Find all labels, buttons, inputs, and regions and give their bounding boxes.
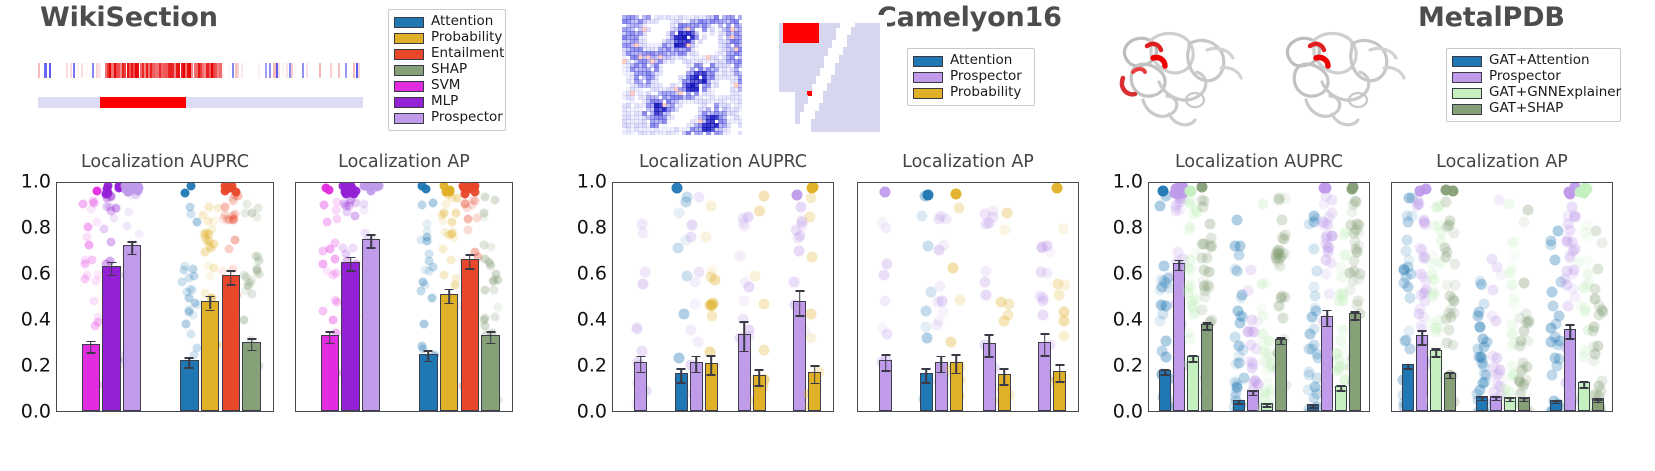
- heatmap-tile: [654, 19, 659, 24]
- y-axis-tick-label: 0.0: [21, 403, 51, 422]
- heatmap-tile: [698, 39, 703, 44]
- heatmap-tile: [686, 131, 691, 135]
- scatter-point: [1353, 227, 1364, 238]
- scatter-point: [1280, 230, 1291, 241]
- scatter-point: [1313, 411, 1324, 412]
- scatter-point: [806, 252, 817, 263]
- scatter-point: [934, 213, 945, 224]
- scatter-point: [440, 270, 449, 279]
- scatter-point: [1041, 240, 1052, 251]
- scatter-point: [99, 225, 108, 234]
- scatter-point: [1243, 326, 1254, 337]
- scatter-point: [1261, 278, 1272, 289]
- attribution-heatmap: [622, 15, 742, 135]
- scatter-point: [980, 290, 991, 301]
- scatter-point: [1568, 268, 1579, 279]
- scatter-point: [639, 266, 650, 277]
- y-axis-tick-label: 1.0: [1113, 173, 1143, 192]
- scatter-point: [1546, 336, 1557, 347]
- scatter-point: [922, 332, 933, 343]
- error-bar-cap: [367, 247, 376, 249]
- legend-swatch-icon: [394, 97, 424, 108]
- scatter-point: [493, 303, 502, 312]
- error-bar-cap: [1277, 344, 1286, 346]
- scatter-point: [1488, 284, 1499, 295]
- scatter-point: [1060, 279, 1071, 290]
- bar-probability-deberta: [440, 294, 458, 411]
- error-bar-cap: [367, 234, 376, 236]
- error-bar-cap: [107, 275, 116, 277]
- bar-gat-gnnexplainer-collapse: [1187, 356, 1199, 411]
- scatter-point: [94, 312, 103, 321]
- scatter-point: [1448, 308, 1459, 319]
- scatter-point: [701, 231, 712, 242]
- scatter-point: [1509, 249, 1520, 260]
- y-axis-tick-label: 0.0: [577, 403, 607, 422]
- error-bar-cap: [1248, 395, 1257, 397]
- scatter-point: [486, 243, 495, 252]
- scatter-point: [1197, 239, 1208, 250]
- error-bar-cap: [1308, 405, 1317, 407]
- scatter-point: [1277, 312, 1288, 323]
- scatter-point: [954, 203, 965, 214]
- scatter-point: [323, 217, 332, 226]
- scatter-point: [1327, 208, 1338, 219]
- scatter-point: [349, 244, 358, 253]
- scatter-point: [446, 256, 455, 265]
- heatmap-tile: [738, 107, 742, 112]
- scatter-point: [1579, 283, 1590, 294]
- error-bar-cap: [1160, 374, 1169, 376]
- error-bar: [1569, 324, 1571, 338]
- scatter-point: [361, 228, 370, 237]
- scatter-point: [438, 216, 447, 225]
- scatter-point: [1353, 274, 1364, 285]
- scatter-point: [179, 266, 188, 275]
- error-bar: [90, 341, 92, 353]
- scatter-point: [1230, 331, 1241, 342]
- dataset-title-camelyon16: Camelyon16: [877, 2, 1062, 33]
- scatter-point: [1478, 298, 1489, 309]
- scatter-point: [1574, 256, 1585, 267]
- scatter-point: [481, 285, 490, 294]
- scatter-point: [876, 323, 887, 334]
- scatter-point: [102, 202, 111, 211]
- error-bar-cap: [226, 284, 235, 286]
- scatter-point: [331, 269, 340, 278]
- chart-title: Localization AUPRC: [56, 152, 274, 172]
- bar-gat-shap-collapse: [1201, 324, 1213, 411]
- scatter-point: [1246, 357, 1257, 368]
- bar-mlp-minilm: [341, 262, 359, 412]
- legend-item-label: Entailment: [431, 47, 504, 61]
- scatter-point: [706, 311, 717, 322]
- scatter-point: [420, 320, 429, 329]
- wikisection-token-attribution-thumbnail: [28, 55, 373, 127]
- scatter-point: [1515, 335, 1526, 346]
- scatter-point: [932, 319, 943, 330]
- error-bar-cap: [1263, 406, 1272, 408]
- legend-item-label: Prospector: [1489, 70, 1561, 84]
- scatter-point: [1474, 321, 1485, 332]
- error-bar-cap: [795, 315, 804, 317]
- scatter-point: [91, 322, 100, 331]
- error-bar: [209, 296, 211, 310]
- scatter-point: [678, 309, 689, 320]
- error-bar-cap: [1203, 329, 1212, 331]
- scatter-point: [1519, 216, 1530, 227]
- legend-item-mlp: MLP: [394, 94, 499, 110]
- error-bar-cap: [740, 321, 749, 323]
- error-bar: [799, 290, 801, 315]
- scatter-point: [1155, 300, 1166, 311]
- legend-item-label: SHAP: [431, 63, 467, 77]
- scatter-point: [1197, 275, 1208, 286]
- scatter-point: [1414, 242, 1425, 253]
- protein-structure-cartoon: [1266, 16, 1416, 136]
- scatter-point: [1504, 199, 1515, 210]
- scatter-point: [1588, 322, 1599, 333]
- scatter-point: [933, 296, 944, 307]
- legend-swatch-icon: [394, 49, 424, 60]
- scatter-point: [1504, 268, 1515, 279]
- error-bar-cap: [636, 372, 645, 374]
- scatter-point: [1170, 200, 1181, 211]
- scatter-point: [1053, 289, 1064, 300]
- tissue-tile: [823, 51, 828, 56]
- chart-panel-metalpdb-auprc: Localization AUPRCCOLLAPSEESMAA0.00.20.4…: [1148, 152, 1370, 412]
- error-bar-cap: [1308, 407, 1317, 409]
- scatter-point: [1198, 196, 1209, 207]
- scatter-point: [1185, 185, 1196, 196]
- legend-swatch-icon: [913, 56, 943, 67]
- scatter-point: [332, 215, 341, 224]
- ground-truth-span: [100, 97, 186, 108]
- legend-swatch-icon: [394, 113, 424, 124]
- scatter-point: [203, 261, 212, 270]
- scatter-point: [1183, 270, 1194, 281]
- scatter-point: [360, 200, 369, 209]
- y-axis-tick-label: 0.0: [1113, 403, 1143, 422]
- scatter-point: [1257, 198, 1268, 209]
- scatter-point: [1441, 197, 1452, 208]
- dataset-title-wikisection: WikiSection: [40, 2, 218, 33]
- scatter-point: [92, 276, 101, 285]
- scatter-point: [347, 188, 356, 197]
- protein-structure-cartoon: [1103, 16, 1253, 136]
- error-bar: [885, 354, 887, 370]
- scatter-point: [1440, 252, 1451, 263]
- bar-shap-deberta: [242, 342, 260, 411]
- plot-area: tile2vecViTCLIPPLIP: [857, 182, 1079, 412]
- error-bar-cap: [86, 341, 95, 343]
- scatter-point: [671, 182, 682, 193]
- heatmap-tile: [678, 103, 683, 108]
- plot-area: MiniLMDeBERTa: [56, 182, 274, 412]
- error-bar-cap: [707, 374, 716, 376]
- scatter-point: [459, 184, 468, 193]
- scatter-point: [1413, 198, 1424, 209]
- scatter-point: [1518, 357, 1529, 368]
- scatter-point: [423, 233, 432, 242]
- scatter-point: [1567, 236, 1578, 247]
- scatter-point: [981, 266, 992, 277]
- scatter-point: [1427, 317, 1438, 328]
- scatter-point: [81, 275, 90, 284]
- y-axis-tick-label: 0.8: [21, 219, 51, 238]
- scatter-point: [807, 182, 818, 193]
- scatter-point: [1249, 376, 1260, 387]
- error-bar-cap: [1160, 369, 1169, 371]
- error-bar-cap: [185, 357, 194, 359]
- error-bar-cap: [1432, 348, 1441, 350]
- chart-panel-wikisection-ap: Localization APMiniLMDeBERTa: [295, 152, 513, 412]
- heatmap-tile: [738, 123, 742, 128]
- scatter-point: [463, 214, 472, 223]
- scatter-point: [806, 309, 817, 320]
- plot-area: COLLAPSEESMAA: [1148, 182, 1370, 412]
- scatter-point: [737, 212, 748, 223]
- scatter-point: [1550, 254, 1561, 265]
- error-bar-cap: [707, 355, 716, 357]
- error-bar: [350, 257, 352, 271]
- legend-item-label: Probability: [431, 31, 502, 45]
- legend-wikisection: AttentionProbabilityEntailmentSHAPSVMMLP…: [388, 9, 506, 131]
- error-bar-cap: [1189, 361, 1198, 363]
- scatter-point: [1429, 220, 1440, 231]
- legend-swatch-icon: [394, 33, 424, 44]
- heatmap-tile: [726, 131, 731, 135]
- scatter-point: [1058, 315, 1069, 326]
- legend-item-attention: Attention: [913, 53, 1028, 69]
- scatter-point: [1157, 186, 1168, 197]
- legend-item-probability: Probability: [913, 85, 1028, 101]
- legend-item-label: Prospector: [950, 70, 1022, 84]
- scatter-point: [1523, 204, 1534, 215]
- error-bar-cap: [1594, 399, 1603, 401]
- scatter-point: [328, 316, 337, 325]
- error-bar: [1059, 364, 1061, 381]
- scatter-point: [1185, 254, 1196, 265]
- scatter-point: [192, 300, 201, 309]
- scatter-point: [1257, 303, 1268, 314]
- legend-item-gat-attention: GAT+Attention: [1452, 53, 1614, 69]
- scatter-point: [1307, 343, 1318, 354]
- scatter-point: [252, 265, 261, 274]
- error-bar-cap: [1040, 333, 1049, 335]
- heatmap-tile: [698, 131, 703, 135]
- scatter-point: [1493, 194, 1504, 205]
- y-axis-tick-label: 1.0: [21, 173, 51, 192]
- scatter-point: [705, 300, 716, 311]
- scatter-point: [1479, 341, 1490, 352]
- scatter-point: [1442, 338, 1453, 349]
- error-bar-cap: [1551, 400, 1560, 402]
- scatter-point: [209, 217, 218, 226]
- scatter-point: [93, 186, 102, 195]
- heatmap-tile: [710, 31, 715, 36]
- scatter-point: [706, 201, 717, 212]
- error-bar-cap: [1580, 381, 1589, 383]
- error-bar-cap: [1277, 337, 1286, 339]
- scatter-point: [689, 276, 700, 287]
- error-bar-cap: [445, 303, 454, 305]
- camelyon16-wsi-heatmap-thumbnail: [612, 10, 902, 140]
- scatter-point: [1196, 182, 1207, 192]
- legend-swatch-icon: [394, 81, 424, 92]
- scatter-point: [106, 238, 115, 247]
- error-bar: [448, 289, 450, 303]
- scatter-point: [443, 191, 452, 200]
- legend-item-prospector: Prospector: [913, 69, 1028, 85]
- scatter-point: [1402, 282, 1413, 293]
- error-bar: [695, 356, 697, 372]
- error-bar-cap: [1506, 398, 1515, 400]
- scatter-point: [1347, 200, 1358, 211]
- legend-swatch-icon: [1452, 56, 1482, 67]
- scatter-point: [330, 295, 339, 304]
- scatter-point: [672, 243, 683, 254]
- scatter-point: [1475, 278, 1486, 289]
- metal-binding-residue-highlight: [1147, 44, 1161, 50]
- scatter-point: [1304, 366, 1315, 377]
- bar-prospector-minilm: [362, 239, 380, 412]
- scatter-point: [85, 241, 94, 250]
- scatter-point: [1326, 230, 1337, 241]
- error-bar-cap: [107, 262, 116, 264]
- scatter-point: [1589, 283, 1600, 294]
- error-bar-cap: [1491, 396, 1500, 398]
- scatter-point: [1230, 263, 1241, 274]
- error-bar-cap: [346, 270, 355, 272]
- chart-panel-wikisection-auprc: Localization AUPRCMiniLMDeBERTa0.00.20.4…: [56, 152, 274, 412]
- scatter-point: [84, 222, 93, 231]
- error-bar-cap: [465, 268, 474, 270]
- error-bar-cap: [486, 343, 495, 345]
- scatter-point: [674, 352, 685, 363]
- heatmap-tile: [674, 107, 679, 112]
- scatter-point: [187, 285, 196, 294]
- legend-item-label: SVM: [431, 79, 460, 93]
- scatter-point: [674, 208, 685, 219]
- token-cell: [360, 63, 362, 78]
- scatter-point: [1401, 234, 1412, 245]
- error-bar-cap: [1403, 364, 1412, 366]
- scatter-point: [749, 270, 760, 281]
- scatter-point: [1545, 235, 1556, 246]
- scatter-point: [1448, 296, 1459, 307]
- legend-item-label: Attention: [431, 15, 493, 29]
- error-bar: [1421, 330, 1423, 344]
- error-bar-cap: [247, 338, 256, 340]
- scatter-point: [1309, 382, 1320, 393]
- scatter-point: [322, 183, 331, 192]
- legend-swatch-icon: [1452, 72, 1482, 83]
- error-bar: [329, 331, 331, 343]
- scatter-point: [1160, 352, 1171, 363]
- scatter-point: [1550, 353, 1561, 364]
- error-bar: [955, 354, 957, 372]
- scatter-point: [923, 240, 934, 251]
- y-axis-tick-label: 0.2: [21, 357, 51, 376]
- scatter-point: [1201, 252, 1212, 263]
- scatter-point: [187, 329, 196, 338]
- y-axis-tick-label: 0.4: [21, 311, 51, 330]
- error-bar: [370, 234, 372, 247]
- error-bar: [1044, 333, 1046, 355]
- scatter-point: [758, 299, 769, 310]
- tissue-tile: [799, 107, 804, 112]
- error-bar-cap: [1491, 400, 1500, 402]
- error-bar-cap: [795, 290, 804, 292]
- error-bar-cap: [1234, 403, 1243, 405]
- scatter-point: [1200, 291, 1211, 302]
- scatter-point: [637, 278, 648, 289]
- scatter-point: [442, 200, 451, 209]
- legend-swatch-icon: [394, 65, 424, 76]
- scatter-point: [1514, 312, 1525, 323]
- error-bar-cap: [1055, 364, 1064, 366]
- error-bar: [111, 262, 113, 275]
- scatter-point: [107, 192, 116, 201]
- error-bar-cap: [1263, 404, 1272, 406]
- scatter-point: [205, 271, 214, 280]
- chart-title: Localization AP: [857, 152, 1079, 172]
- error-bar-cap: [1520, 401, 1529, 403]
- bar-shap-deberta: [481, 335, 499, 411]
- dataset-title-metalpdb: MetalPDB: [1418, 2, 1565, 33]
- error-bar: [469, 254, 471, 268]
- scatter-point: [470, 182, 479, 191]
- scatter-point: [87, 256, 96, 265]
- error-bar-cap: [1203, 322, 1212, 324]
- scatter-point: [1487, 254, 1498, 265]
- error-bar: [926, 368, 928, 382]
- scatter-point: [791, 190, 802, 201]
- scatter-point: [486, 261, 495, 270]
- scatter-point: [230, 236, 239, 245]
- scatter-point: [1518, 278, 1529, 289]
- scatter-point: [1275, 292, 1286, 303]
- scatter-point: [124, 207, 133, 216]
- figure-root: WikiSection AttentionProbabilityEntailme…: [0, 0, 1655, 471]
- scatter-point: [1488, 351, 1499, 362]
- scatter-point: [90, 297, 99, 306]
- ground-truth-tumor-mask: [767, 15, 887, 135]
- scatter-point: [469, 196, 478, 205]
- legend-camelyon16: AttentionProspectorProbability: [907, 48, 1035, 106]
- scatter-point: [738, 295, 749, 306]
- scatter-point: [247, 209, 256, 218]
- scatter-point: [1232, 214, 1243, 225]
- y-axis-tick-label: 0.2: [577, 357, 607, 376]
- error-bar-cap: [226, 270, 235, 272]
- legend-swatch-icon: [1452, 104, 1482, 115]
- scatter-point: [1441, 280, 1452, 291]
- error-bar: [490, 331, 492, 343]
- scatter-point: [631, 322, 642, 333]
- scatter-point: [1000, 224, 1011, 235]
- y-axis-tick-label: 0.8: [1113, 219, 1143, 238]
- y-axis-tick-label: 0.6: [21, 265, 51, 284]
- y-axis-tick-label: 1.0: [577, 173, 607, 192]
- scatter-point: [480, 313, 489, 322]
- scatter-point: [1547, 369, 1558, 380]
- tissue-tile: [835, 23, 840, 28]
- metalpdb-protein-structure-thumbnail: [1098, 14, 1418, 140]
- legend-item-label: GAT+GNNExplainer: [1489, 86, 1621, 100]
- scatter-point: [1591, 225, 1602, 236]
